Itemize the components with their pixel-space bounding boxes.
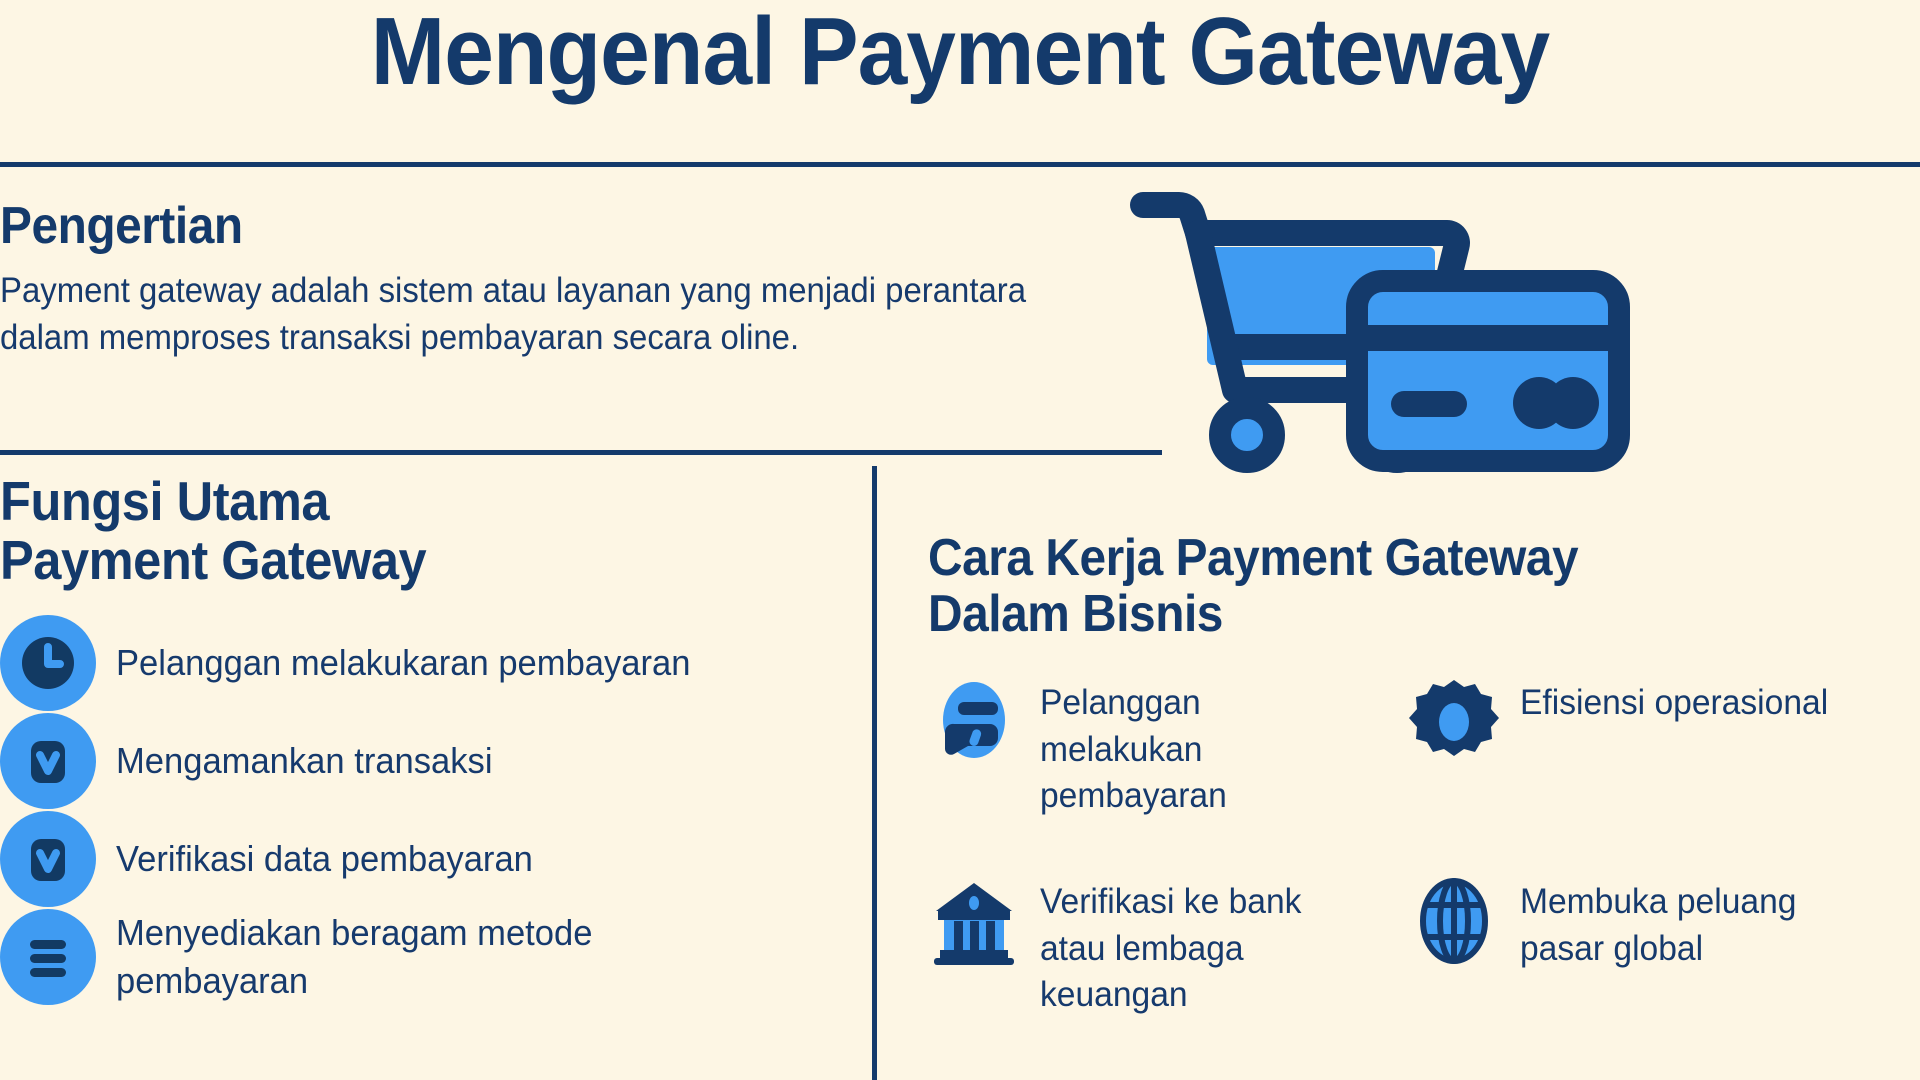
list-item-label: Mengamankan transaksi — [116, 737, 493, 785]
list-item-label: Pelanggan melakukan pembayaran — [1040, 676, 1357, 820]
list-item: Efisiensi operasional — [1408, 676, 1888, 861]
infographic-page: Mengenal Payment Gateway Pengertian Paym… — [0, 0, 1920, 1080]
clock-icon — [0, 615, 96, 711]
fungsi-list: Pelanggan melakukaran pembayaran Mengama… — [0, 615, 860, 1005]
gear-icon — [1408, 676, 1500, 768]
list-item: Pelanggan melakukan pembayaran — [928, 676, 1408, 861]
column-divider-rule — [872, 466, 877, 1080]
list-item: Membuka peluang pasar global — [1408, 875, 1888, 1060]
list-item-label: Verifikasi ke bank atau lembaga keuangan — [1040, 875, 1357, 1019]
shield-check-icon — [0, 811, 96, 907]
pengertian-heading: Pengertian — [0, 198, 1076, 254]
section-divider-rule — [0, 450, 1162, 455]
list-item: Mengamankan transaksi — [0, 713, 860, 809]
list-item: Menyediakan beragam metode pembayaran — [0, 909, 860, 1005]
cara-kerja-heading-line1: Cara Kerja Payment Gateway — [928, 530, 1738, 586]
list-item-label: Menyediakan beragam metode pembayaran — [116, 909, 721, 1005]
fungsi-utama-section: Fungsi Utama Payment Gateway Pelanggan m… — [0, 472, 860, 1021]
list-item-label: Verifikasi data pembayaran — [116, 835, 533, 883]
list-item: Pelanggan melakukaran pembayaran — [0, 615, 860, 711]
cara-kerja-section: Cara Kerja Payment Gateway Dalam Bisnis … — [928, 530, 1888, 1060]
list-item: Verifikasi ke bank atau lembaga keuangan — [928, 875, 1408, 1060]
shopping-cart-illustration — [1135, 185, 1635, 515]
pengertian-body: Payment gateway adalah sistem atau layan… — [0, 268, 1100, 362]
cara-kerja-grid: Pelanggan melakukan pembayaran Efisiensi… — [928, 676, 1888, 1060]
globe-icon — [1408, 875, 1500, 967]
list-item-label: Efisiensi operasional — [1520, 676, 1828, 727]
hand-holding-card-icon — [928, 676, 1020, 768]
pengertian-section: Pengertian Payment gateway adalah sistem… — [0, 198, 1170, 362]
title-divider-rule — [0, 162, 1920, 167]
list-lines-icon — [0, 909, 96, 1005]
list-item: Verifikasi data pembayaran — [0, 811, 860, 907]
fungsi-heading-line1: Fungsi Utama — [0, 472, 791, 531]
fungsi-heading-line2: Payment Gateway — [0, 531, 791, 590]
list-item-label: Membuka peluang pasar global — [1520, 875, 1837, 972]
list-item-label: Pelanggan melakukaran pembayaran — [116, 639, 690, 687]
shield-check-icon — [0, 713, 96, 809]
bank-icon — [928, 875, 1020, 967]
page-title: Mengenal Payment Gateway — [67, 2, 1853, 103]
cara-kerja-heading-line2: Dalam Bisnis — [928, 586, 1738, 642]
